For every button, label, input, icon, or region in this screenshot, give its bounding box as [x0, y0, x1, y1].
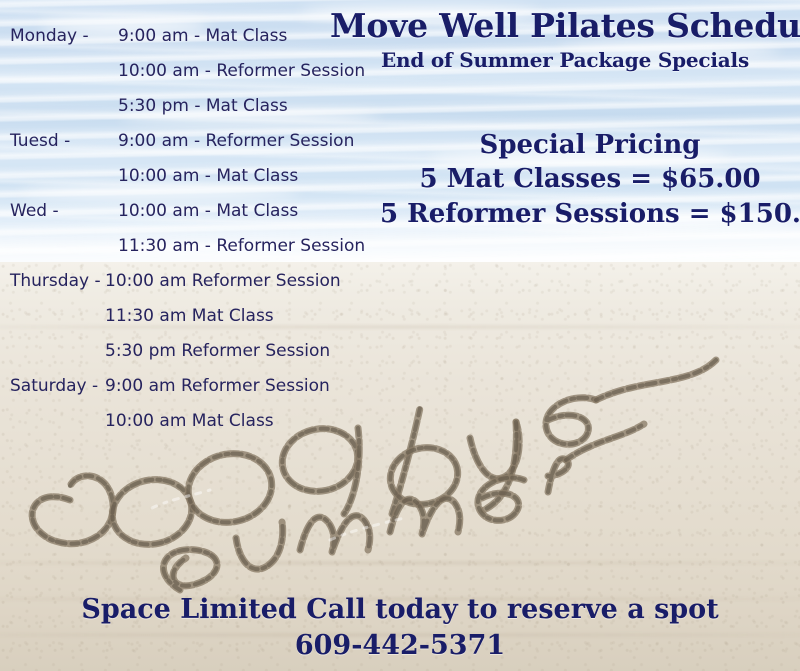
sand-ripple [0, 562, 800, 564]
schedule-class-entry: 10:00 am - Mat Class [118, 166, 298, 186]
schedule-class-entry: 10:00 am - Reformer Session [118, 61, 365, 81]
schedule-row: Wed -10:00 am - Mat Class [10, 201, 430, 236]
schedule-row: Thursday -10:00 am Reformer Session [10, 271, 430, 306]
cta-phone-number[interactable]: 609-442-5371 [0, 628, 800, 664]
schedule-row: 5:30 pm Reformer Session [10, 341, 430, 376]
pricing-line-reformer-sessions: 5 Reformer Sessions = $150.00 [380, 197, 800, 232]
schedule-day-label: Wed - [10, 201, 118, 221]
schedule-day-label: Monday - [10, 26, 118, 46]
schedule-class-entry: 11:30 am - Reformer Session [118, 236, 365, 256]
schedule-class-entry: 10:00 am Mat Class [105, 411, 274, 431]
schedule-class-entry: 9:00 am - Mat Class [118, 26, 287, 46]
schedule-row: 11:30 am Mat Class [10, 306, 430, 341]
schedule-row: 11:30 am - Reformer Session [10, 236, 430, 271]
schedule-row: 5:30 pm - Mat Class [10, 96, 430, 131]
class-schedule-list: Monday -9:00 am - Mat Class10:00 am - Re… [10, 26, 430, 446]
schedule-class-entry: 10:00 am Reformer Session [105, 271, 341, 291]
schedule-day-label: Saturday - [10, 376, 105, 396]
schedule-row: Saturday -9:00 am Reformer Session [10, 376, 430, 411]
pricing-line-mat-classes: 5 Mat Classes = $65.00 [380, 162, 800, 197]
cta-message: Space Limited Call today to reserve a sp… [0, 592, 800, 628]
schedule-class-entry: 5:30 pm - Mat Class [118, 96, 288, 116]
schedule-class-entry: 10:00 am - Mat Class [118, 201, 298, 221]
call-to-action-block: Space Limited Call today to reserve a sp… [0, 592, 800, 664]
pilates-schedule-poster: Move Well Pilates Schedule End of Summer… [0, 0, 800, 671]
schedule-class-entry: 11:30 am Mat Class [105, 306, 274, 326]
schedule-row: 10:00 am - Reformer Session [10, 61, 430, 96]
schedule-class-entry: 9:00 am - Reformer Session [118, 131, 354, 151]
schedule-day-label: Thursday - [10, 271, 105, 291]
pricing-heading: Special Pricing [380, 128, 800, 162]
schedule-row: Monday -9:00 am - Mat Class [10, 26, 430, 61]
schedule-day-label: Tuesd - [10, 131, 118, 151]
schedule-row: Tuesd -9:00 am - Reformer Session [10, 131, 430, 166]
schedule-row: 10:00 am - Mat Class [10, 166, 430, 201]
pricing-block: Special Pricing 5 Mat Classes = $65.00 5… [380, 128, 800, 232]
schedule-class-entry: 5:30 pm Reformer Session [105, 341, 330, 361]
schedule-row: 10:00 am Mat Class [10, 411, 430, 446]
schedule-class-entry: 9:00 am Reformer Session [105, 376, 330, 396]
